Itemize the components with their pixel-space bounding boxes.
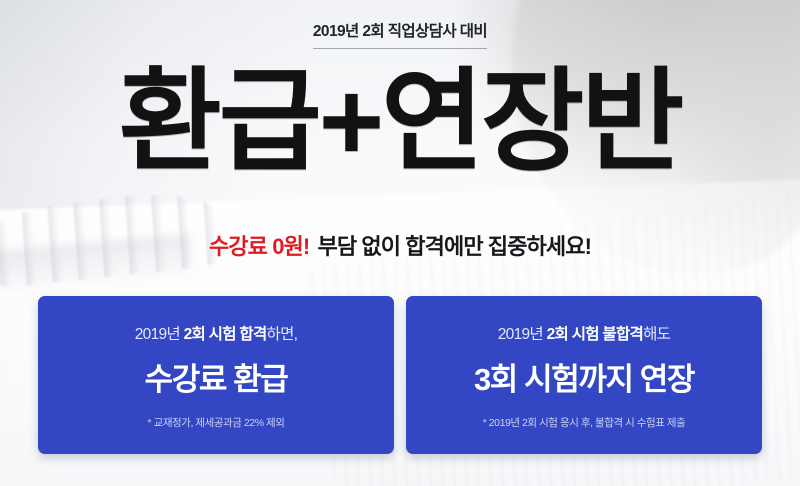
subline-accent-text: 수강료 0원!: [209, 234, 309, 259]
card-extension-top-line: 2019년 2회 시험 불합격해도: [498, 322, 670, 344]
benefit-card-extension[interactable]: 2019년 2회 시험 불합격해도 3회 시험까지 연장 * 2019년 2회 …: [406, 296, 762, 454]
subline: 수강료 0원! 부담 없이 합격에만 집중하세요!: [0, 229, 800, 261]
card-extension-top-suffix: 해도: [643, 326, 670, 343]
headline-text: 환급+연장반: [0, 66, 800, 178]
card-extension-top-bold: 2회 시험 불합격: [547, 326, 644, 343]
card-refund-note: * 교재정가, 제세공과금 22% 제외: [148, 415, 285, 430]
card-refund-top-line: 2019년 2회 시험 합격하면,: [135, 322, 298, 344]
card-refund-top-bold: 2회 시험 합격: [184, 326, 267, 343]
eyebrow-container: 2019년 2회 직업상담사 대비: [0, 19, 800, 49]
card-extension-note: * 2019년 2회 시험 응시 후, 불합격 시 수험표 제출: [483, 415, 686, 430]
banner-content: 2019년 2회 직업상담사 대비 환급+연장반 수강료 0원! 부담 없이 합…: [0, 0, 800, 486]
subline-rest-text: 부담 없이 합격에만 집중하세요!: [312, 234, 591, 259]
card-refund-top-suffix: 하면,: [267, 326, 298, 343]
card-refund-main-text: 수강료 환급: [145, 354, 288, 399]
benefit-cards: 2019년 2회 시험 합격하면, 수강료 환급 * 교재정가, 제세공과금 2…: [38, 296, 762, 454]
card-extension-top-prefix: 2019년: [498, 326, 547, 343]
eyebrow-text: 2019년 2회 직업상담사 대비: [313, 19, 487, 49]
card-extension-main-text: 3회 시험까지 연장: [474, 354, 694, 399]
benefit-card-refund[interactable]: 2019년 2회 시험 합격하면, 수강료 환급 * 교재정가, 제세공과금 2…: [38, 296, 394, 454]
promo-banner: 2019년 2회 직업상담사 대비 환급+연장반 수강료 0원! 부담 없이 합…: [0, 0, 800, 486]
card-refund-top-prefix: 2019년: [135, 326, 184, 343]
